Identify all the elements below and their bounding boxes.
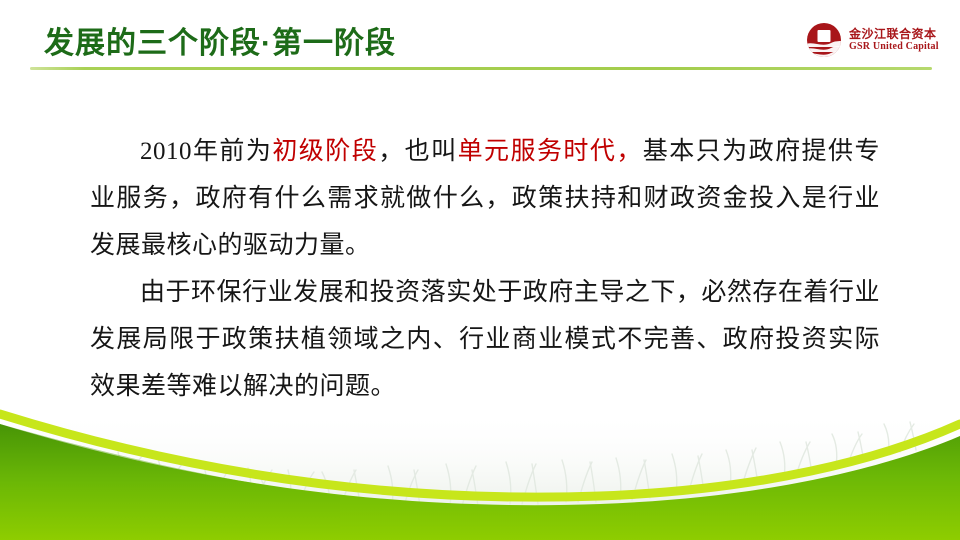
- company-logo: 金沙江联合资本 GSR United Capital: [805, 18, 945, 62]
- paragraph-1-run-0: 2010年前为: [140, 138, 272, 165]
- paragraph-1: 2010年前为初级阶段，也叫单元服务时代，基本只为政府提供专业服务，政府有什么需…: [90, 128, 880, 269]
- paragraph-1-run-1: 初级阶段: [272, 138, 378, 165]
- paragraph-1-run-2: ，也叫: [378, 138, 457, 165]
- slide-header: 发展的三个阶段·第一阶段 金沙江联: [0, 0, 960, 75]
- company-name-en: GSR United Capital: [849, 41, 939, 52]
- company-logo-text: 金沙江联合资本 GSR United Capital: [849, 28, 939, 52]
- title-divider: [30, 67, 932, 70]
- bottom-decoration: [0, 380, 960, 540]
- company-name-cn: 金沙江联合资本: [849, 28, 939, 41]
- page-title: 发展的三个阶段·第一阶段: [44, 18, 396, 62]
- gsr-red-sun-emblem-icon: [805, 21, 843, 59]
- paragraph-1-run-3: 单元服务时代，: [458, 138, 643, 165]
- slide-canvas: 发展的三个阶段·第一阶段 金沙江联: [0, 0, 960, 540]
- slide-body: 2010年前为初级阶段，也叫单元服务时代，基本只为政府提供专业服务，政府有什么需…: [90, 128, 880, 410]
